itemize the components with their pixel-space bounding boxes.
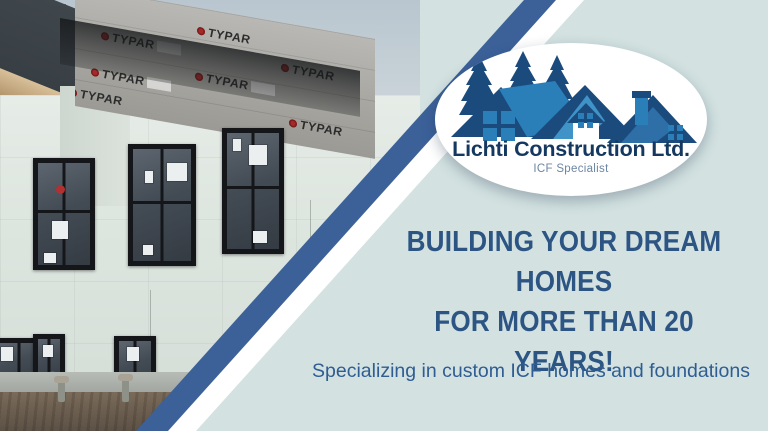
window-mullion: [38, 210, 90, 213]
window-sticker: [143, 245, 153, 255]
window-sticker: [253, 231, 267, 243]
window-sticker: [52, 221, 68, 239]
headline-line-1: BUILDING YOUR DREAM HOMES: [407, 226, 722, 298]
chimney-icon: [635, 95, 648, 125]
window-mullion: [161, 149, 164, 261]
typar-label: TYPAR: [80, 87, 122, 108]
window: [222, 128, 284, 254]
window-sticker: [44, 253, 56, 263]
drain-pipe-cap: [118, 374, 133, 381]
typar-logo-icon: [289, 119, 297, 128]
window-sticker: [249, 145, 267, 165]
window-sticker-mark: [56, 185, 65, 194]
logo-artwork: [435, 51, 707, 143]
company-logo[interactable]: Lichti Construction Ltd. ICF Specialist: [435, 43, 707, 196]
window-mullion: [227, 186, 279, 189]
typar-logo-icon: [197, 27, 205, 36]
window-sticker: [167, 163, 187, 181]
window-sticker: [145, 171, 153, 183]
window: [128, 144, 196, 266]
chimney-cap: [632, 91, 651, 98]
typar-logo-icon: [75, 88, 77, 97]
window-sticker: [233, 139, 241, 151]
drain-pipe-cap: [54, 376, 69, 383]
window-sticker: [127, 347, 139, 361]
subtext-line-2: foundations: [649, 360, 750, 382]
subtext: Specializing in custom ICF homes and fou…: [300, 358, 762, 386]
logo-tagline: ICF Specialist: [435, 163, 707, 175]
subtext-line-1: Specializing in custom ICF homes and: [312, 360, 644, 382]
typar-label: TYPAR: [208, 25, 250, 46]
window: [33, 158, 95, 270]
window-sticker: [1, 347, 13, 361]
drain-pipe: [58, 380, 65, 402]
window-mullion: [63, 163, 66, 265]
drain-pipe: [122, 378, 129, 402]
typar-label: TYPAR: [300, 118, 342, 139]
logo-company-name: Lichti Construction Ltd.: [435, 137, 707, 162]
window-sticker: [43, 345, 53, 357]
window-mullion: [133, 201, 191, 204]
promotional-banner: TYPAR TYPAR TYPAR TYPAR TYPAR: [0, 0, 768, 431]
